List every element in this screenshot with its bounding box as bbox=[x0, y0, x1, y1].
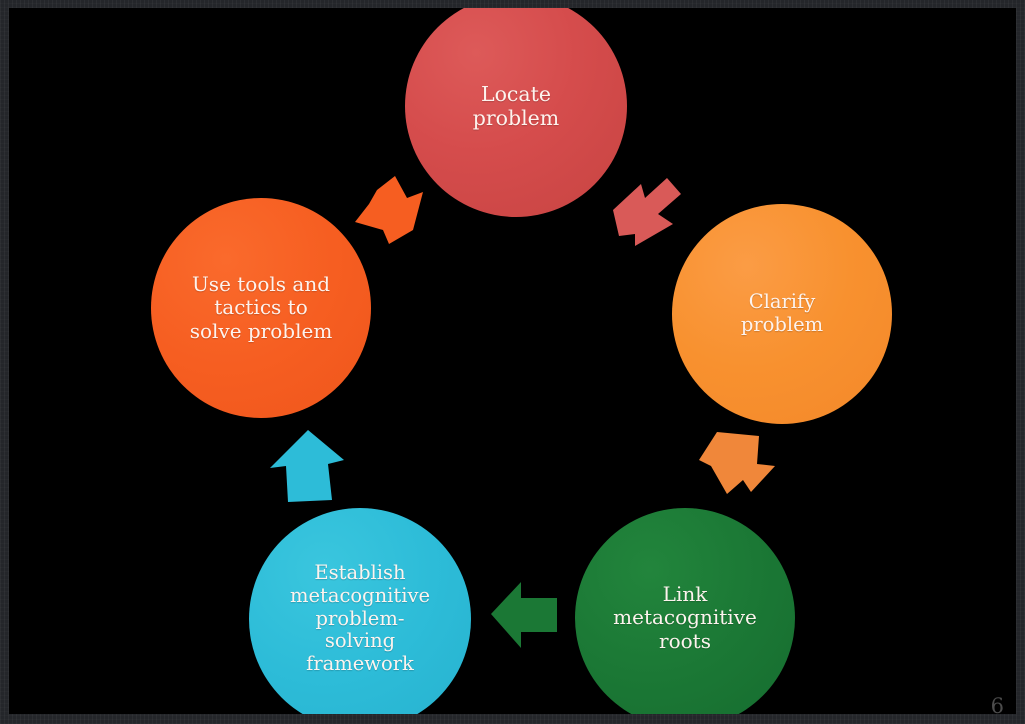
cycle-node-label: Locate problem bbox=[465, 82, 568, 130]
slide-frame: Locate problem Clarify problem Link meta… bbox=[0, 0, 1025, 724]
arrow-locate-to-clarify-icon bbox=[605, 176, 695, 266]
arrow-usetools-to-locate-icon bbox=[347, 170, 439, 262]
cycle-node-label: Clarify problem bbox=[733, 291, 831, 337]
cycle-node-establish-framework[interactable]: Establish metacognitive problem- solving… bbox=[249, 508, 471, 714]
arrow-clarify-to-link-icon bbox=[697, 422, 789, 514]
cycle-node-label: Use tools and tactics to solve problem bbox=[182, 273, 341, 343]
cycle-node-clarify-problem[interactable]: Clarify problem bbox=[672, 204, 892, 424]
cycle-node-label: Establish metacognitive problem- solving… bbox=[282, 562, 438, 676]
slide-canvas: Locate problem Clarify problem Link meta… bbox=[9, 8, 1016, 714]
cycle-node-use-tools-and-tactics[interactable]: Use tools and tactics to solve problem bbox=[151, 198, 371, 418]
cycle-node-label: Link metacognitive roots bbox=[605, 583, 765, 653]
cycle-node-link-metacognitive-roots[interactable]: Link metacognitive roots bbox=[575, 508, 795, 714]
arrow-establish-to-usetools-icon bbox=[262, 420, 358, 516]
arrow-link-to-establish-icon bbox=[487, 570, 579, 662]
page-number: 6 bbox=[991, 694, 1004, 714]
